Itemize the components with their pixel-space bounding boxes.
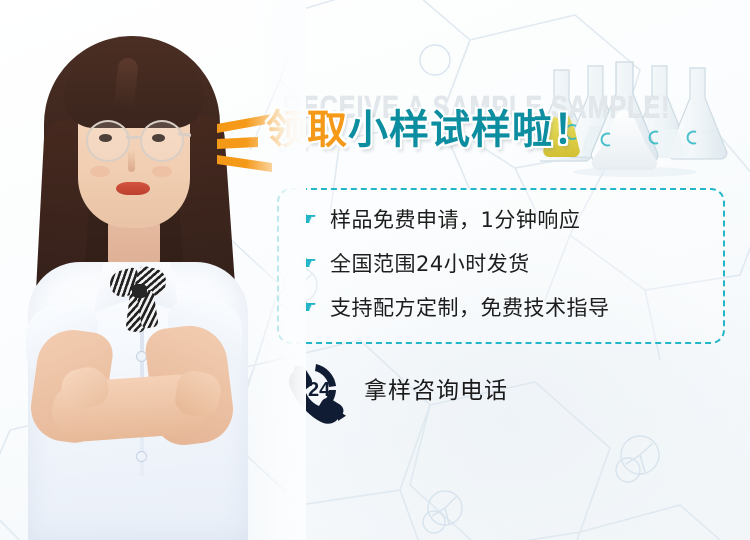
mouth: [116, 182, 150, 195]
portrait-fade: [246, 0, 306, 540]
headline-part-2: 小样试样啦！: [348, 107, 594, 153]
eyeglass-lens-right: [140, 120, 184, 162]
page-title: 领取小样试样啦！: [266, 110, 594, 150]
list-item: ☛ 样品免费申请，1分钟响应: [300, 198, 730, 240]
shirt-button: [137, 452, 146, 461]
nose: [128, 150, 135, 172]
cheek-right: [152, 166, 172, 177]
feature-text: 样品免费申请，1分钟响应: [330, 204, 580, 234]
eyeglass-bridge: [126, 136, 140, 139]
striped-bow-tie: [110, 268, 168, 334]
shirt-button: [137, 352, 146, 361]
promo-banner: RECEIVE A SAMPLE SAMPLE! 领取小样试样啦！ ☛ 样品免费…: [0, 0, 750, 540]
feature-text: 支持配方定制，免费技术指导: [330, 292, 610, 322]
cheek-left: [90, 166, 110, 177]
fringe: [64, 50, 204, 128]
feature-text: 全国范围24小时发货: [330, 248, 530, 278]
feature-list: ☛ 样品免费申请，1分钟响应 ☛ 全国范围24小时发货 ☛ 支持配方定制，免费技…: [300, 198, 730, 330]
contact-row: 24 拿样咨询电话: [276, 352, 508, 424]
consultant-portrait: [0, 0, 300, 540]
phone-badge-24: 24: [308, 379, 331, 401]
contact-label: 拿样咨询电话: [364, 371, 508, 405]
eyeglass-lens-left: [86, 120, 130, 162]
list-item: ☛ 支持配方定制，免费技术指导: [300, 286, 730, 328]
list-item: ☛ 全国范围24小时发货: [300, 242, 730, 284]
